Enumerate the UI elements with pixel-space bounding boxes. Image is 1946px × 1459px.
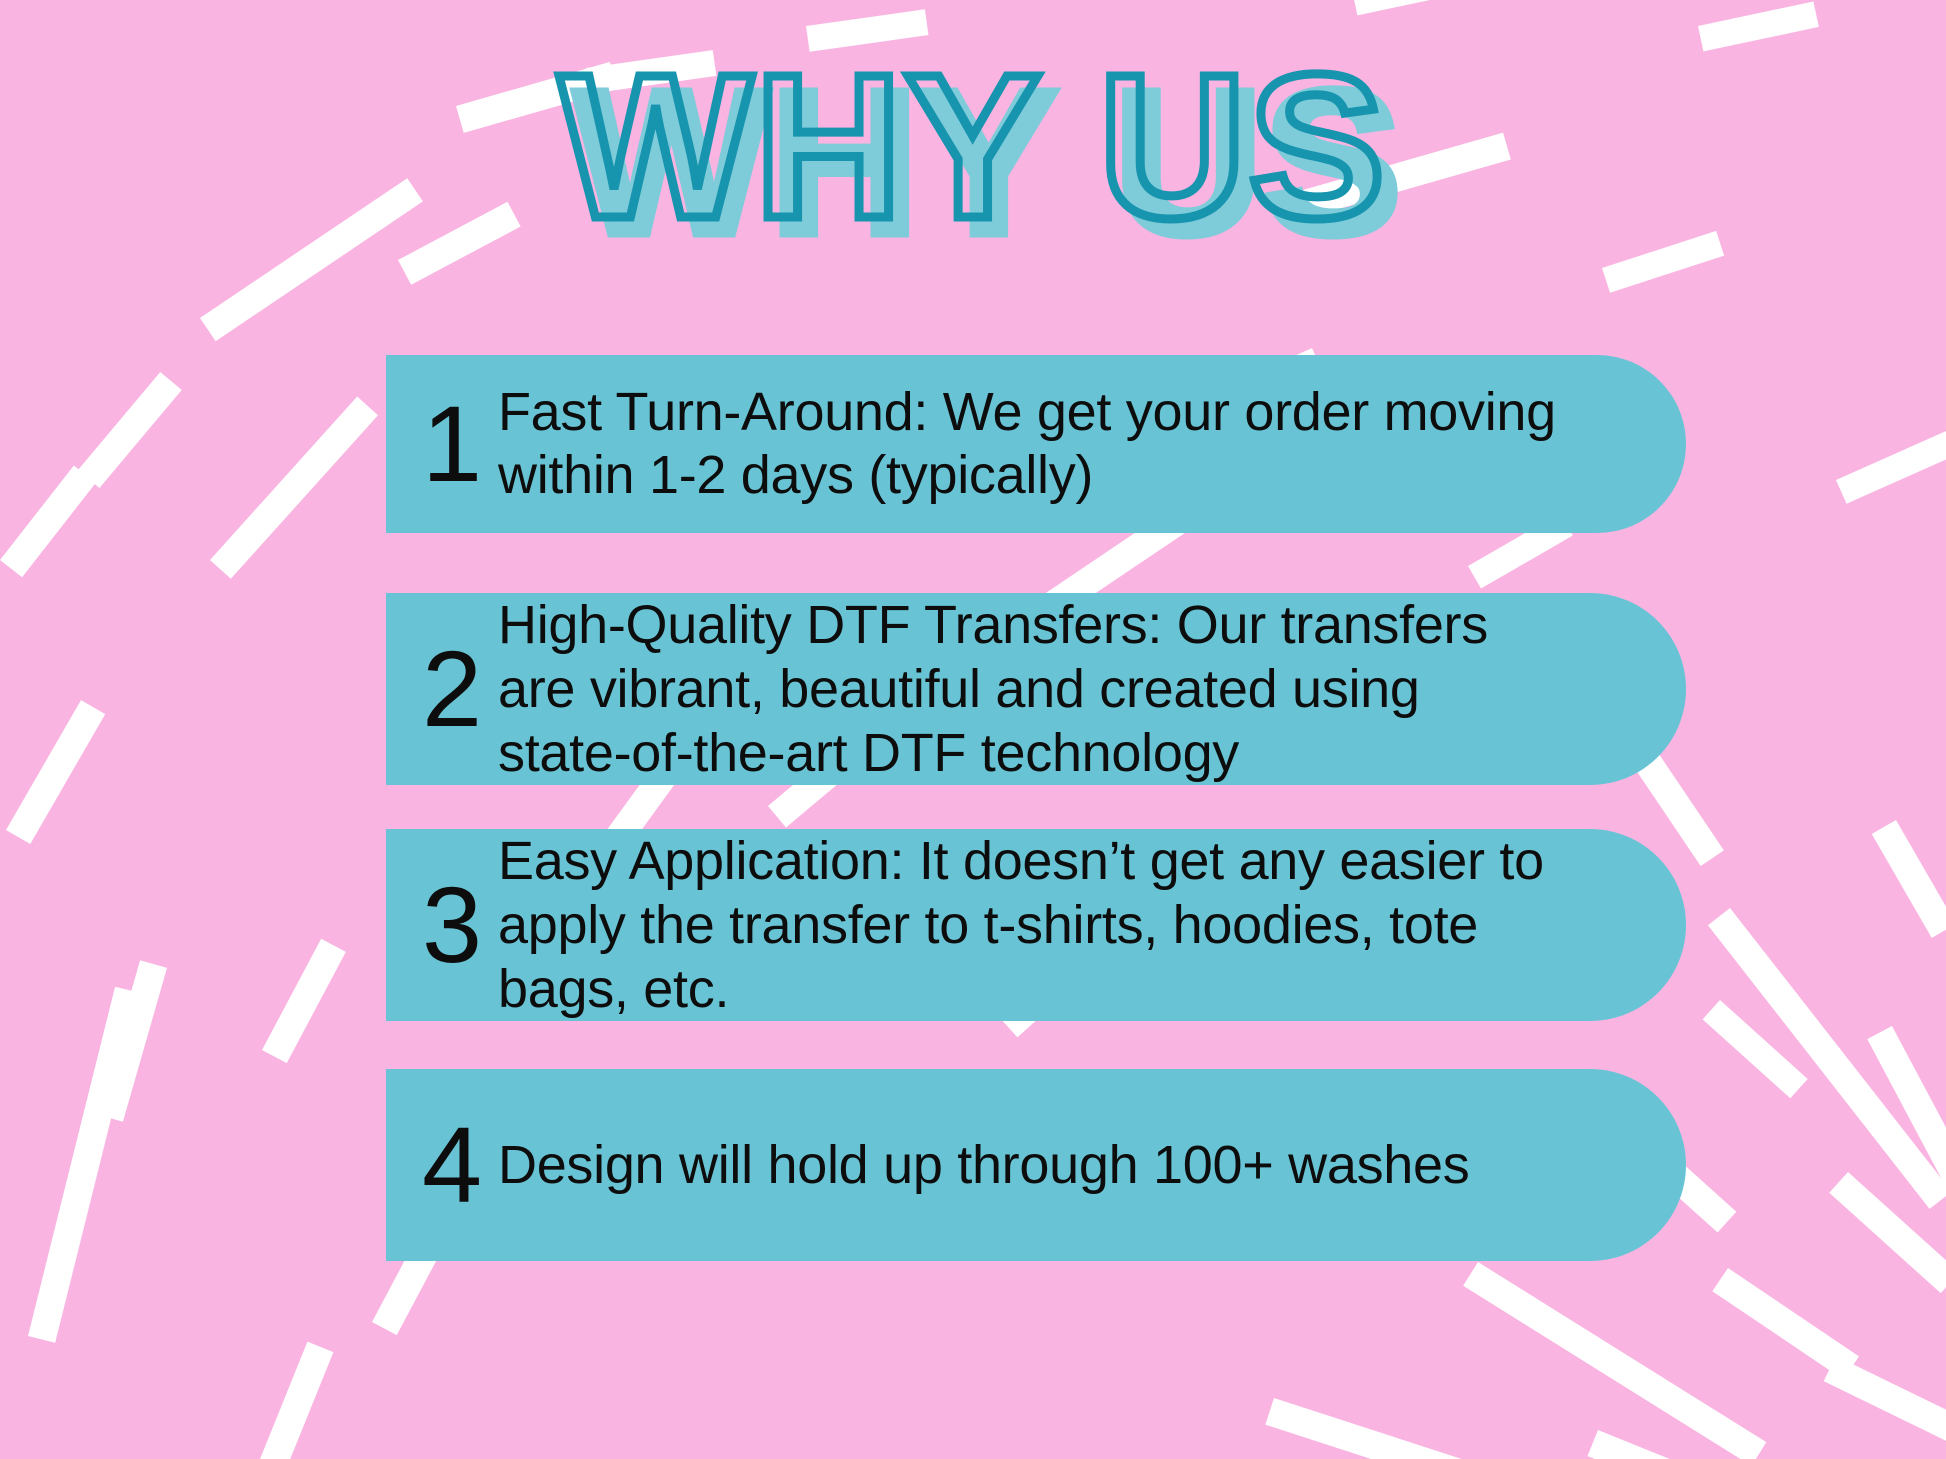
list-item-text: Fast Turn-Around: We get your order movi… [498,381,1566,506]
list-item: 3 Easy Application: It doesn’t get any e… [386,829,1686,1021]
list-item-number: 2 [386,635,498,743]
benefits-list: 1 Fast Turn-Around: We get your order mo… [386,355,1686,1261]
page-title-outline: WHY US [0,42,1946,252]
list-item-number: 1 [386,390,498,498]
list-item-text: High-Quality DTF Transfers: Our transfer… [498,593,1566,786]
list-item-text: Easy Application: It doesn’t get any eas… [498,829,1566,1022]
list-item: 2 High-Quality DTF Transfers: Our transf… [386,593,1686,785]
list-item-number: 3 [386,871,498,979]
list-item-text: Design will hold up through 100+ washes [498,1134,1566,1197]
list-item: 1 Fast Turn-Around: We get your order mo… [386,355,1686,533]
page-title: WHY US WHY US WHY US [0,42,1946,262]
list-item-number: 4 [386,1111,498,1219]
list-item: 4 Design will hold up through 100+ washe… [386,1069,1686,1261]
poster-canvas: WHY US WHY US WHY US 1 Fast Turn-Around:… [0,0,1946,1459]
